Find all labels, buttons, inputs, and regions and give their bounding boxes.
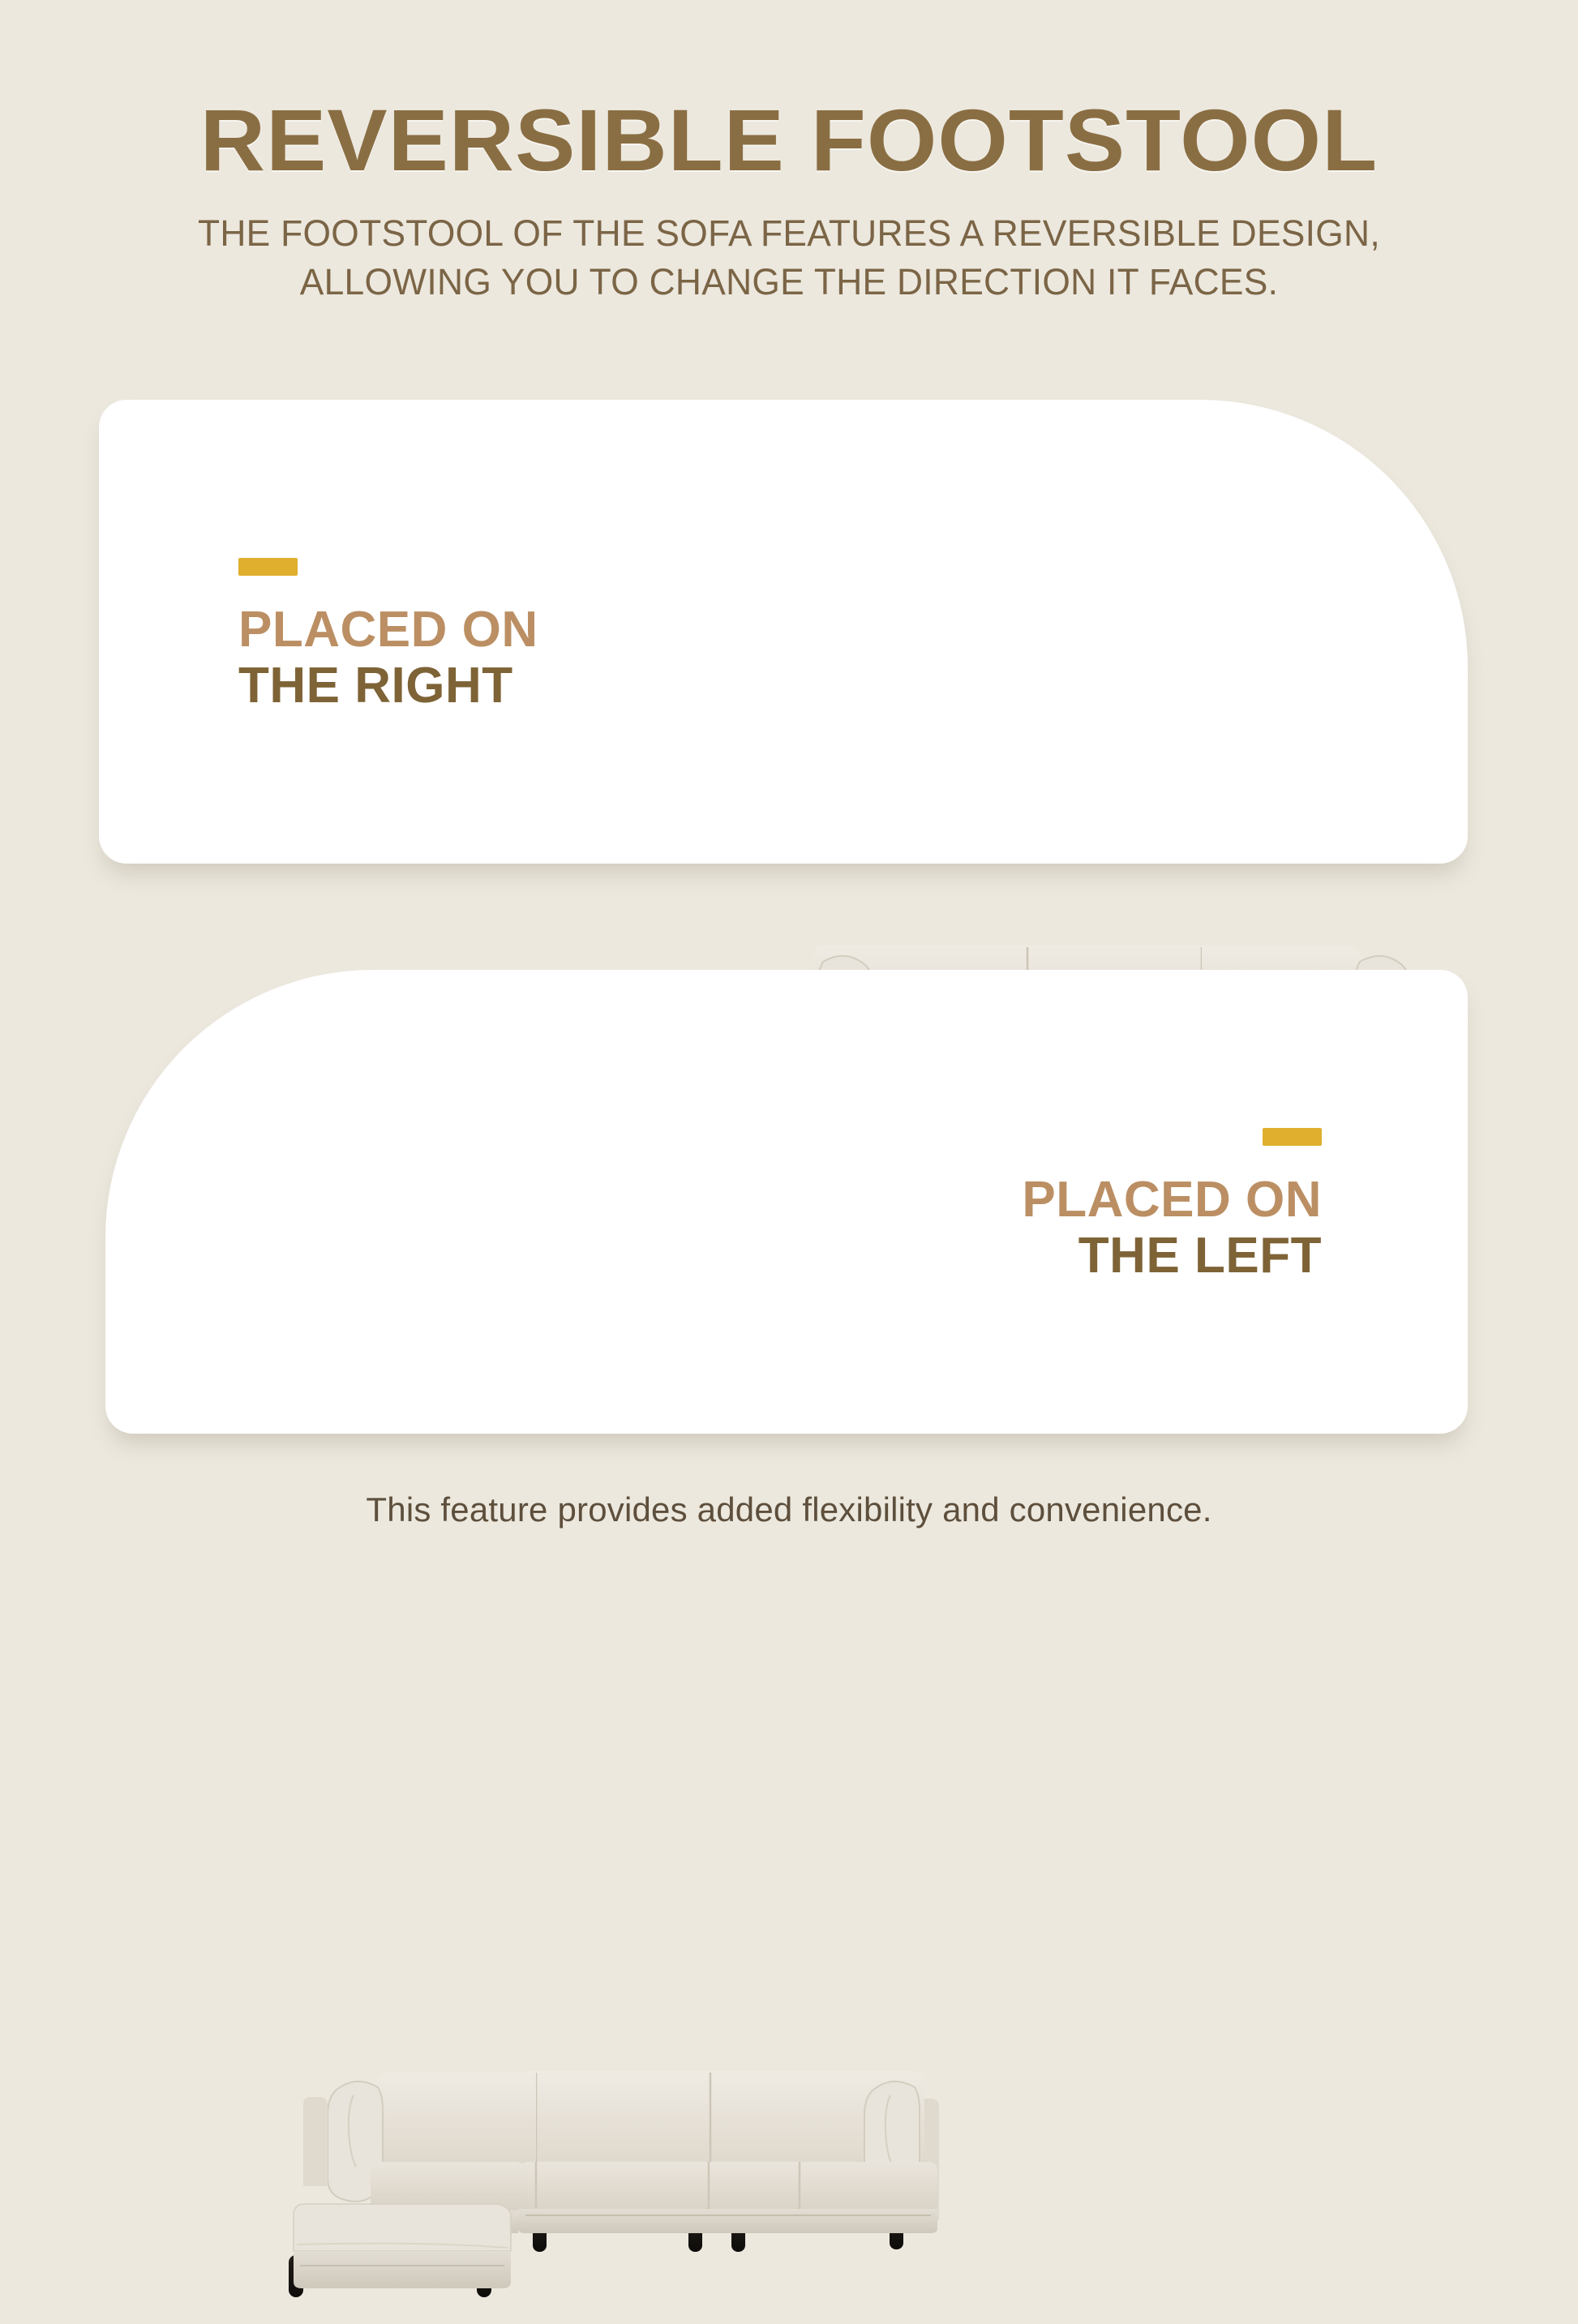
accent-bar-icon	[1263, 1128, 1322, 1146]
card-right-label-line-2: THE RIGHT	[238, 658, 538, 714]
footer-caption: This feature provides added flexibility …	[0, 1490, 1578, 1529]
card-left-label-line-1: PLACED ON	[1022, 1172, 1322, 1228]
subtitle-line-2: ALLOWING YOU TO CHANGE THE DIRECTION IT …	[12, 258, 1567, 306]
card-left-label-line-2: THE LEFT	[1022, 1228, 1322, 1284]
label-block-left: PLACED ON THE LEFT	[1022, 1128, 1322, 1284]
card-placed-on-the-left: PLACED ON THE LEFT	[105, 970, 1468, 1434]
page-title: REVERSIBLE FOOTSTOOL	[0, 0, 1578, 185]
label-block-right: PLACED ON THE RIGHT	[238, 558, 538, 714]
page-subtitle: THE FOOTSTOOL OF THE SOFA FEATURES A REV…	[12, 185, 1567, 306]
header: REVERSIBLE FOOTSTOOL THE FOOTSTOOL OF TH…	[0, 0, 1578, 306]
sofa-image-footstool-left	[264, 2048, 946, 2324]
footstool-left	[294, 2204, 511, 2288]
accent-bar-icon	[238, 558, 298, 576]
subtitle-line-1: THE FOOTSTOOL OF THE SOFA FEATURES A REV…	[12, 209, 1567, 257]
card-placed-on-the-right: PLACED ON THE RIGHT	[99, 400, 1468, 864]
card-right-label-line-1: PLACED ON	[238, 602, 538, 658]
